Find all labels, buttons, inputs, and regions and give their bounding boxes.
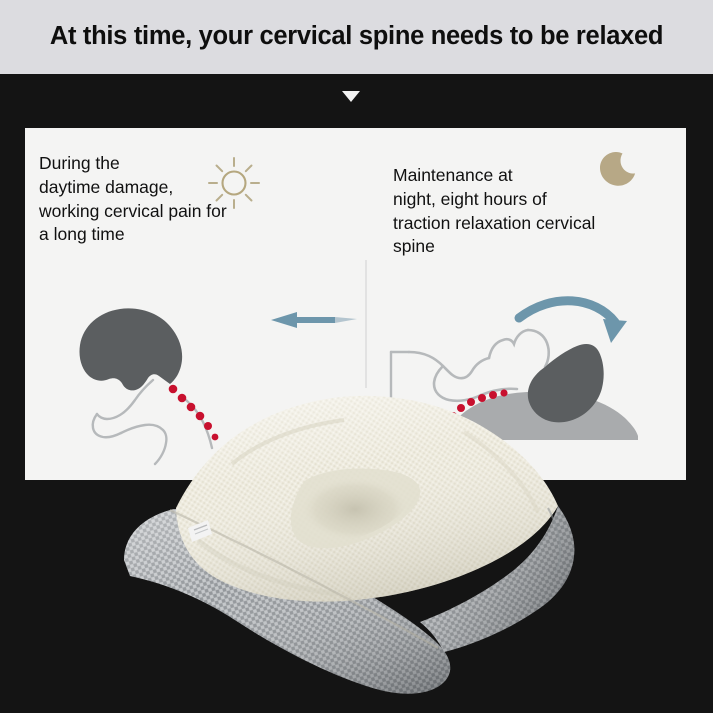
header-banner: At this time, your cervical spine needs … <box>0 0 713 74</box>
night-description: Maintenance at night, eight hours of tra… <box>393 164 683 259</box>
panel-divider <box>365 260 367 388</box>
cervical-contour-pillow-photo <box>108 390 608 713</box>
page-title: At this time, your cervical spine needs … <box>50 24 663 50</box>
moon-icon <box>591 148 637 194</box>
product-infographic-page: At this time, your cervical spine needs … <box>0 0 713 713</box>
blue-arrow-curved-icon <box>519 301 627 343</box>
caret-down-icon <box>342 91 360 102</box>
daytime-description: During the daytime damage, working cervi… <box>39 152 339 247</box>
dark-stage: During the daytime damage, working cervi… <box>0 74 713 713</box>
blue-arrow-left-icon <box>271 312 357 328</box>
sun-icon <box>206 155 262 211</box>
daytime-column: During the daytime damage, working cervi… <box>39 152 339 247</box>
night-column: Maintenance at night, eight hours of tra… <box>393 164 683 259</box>
